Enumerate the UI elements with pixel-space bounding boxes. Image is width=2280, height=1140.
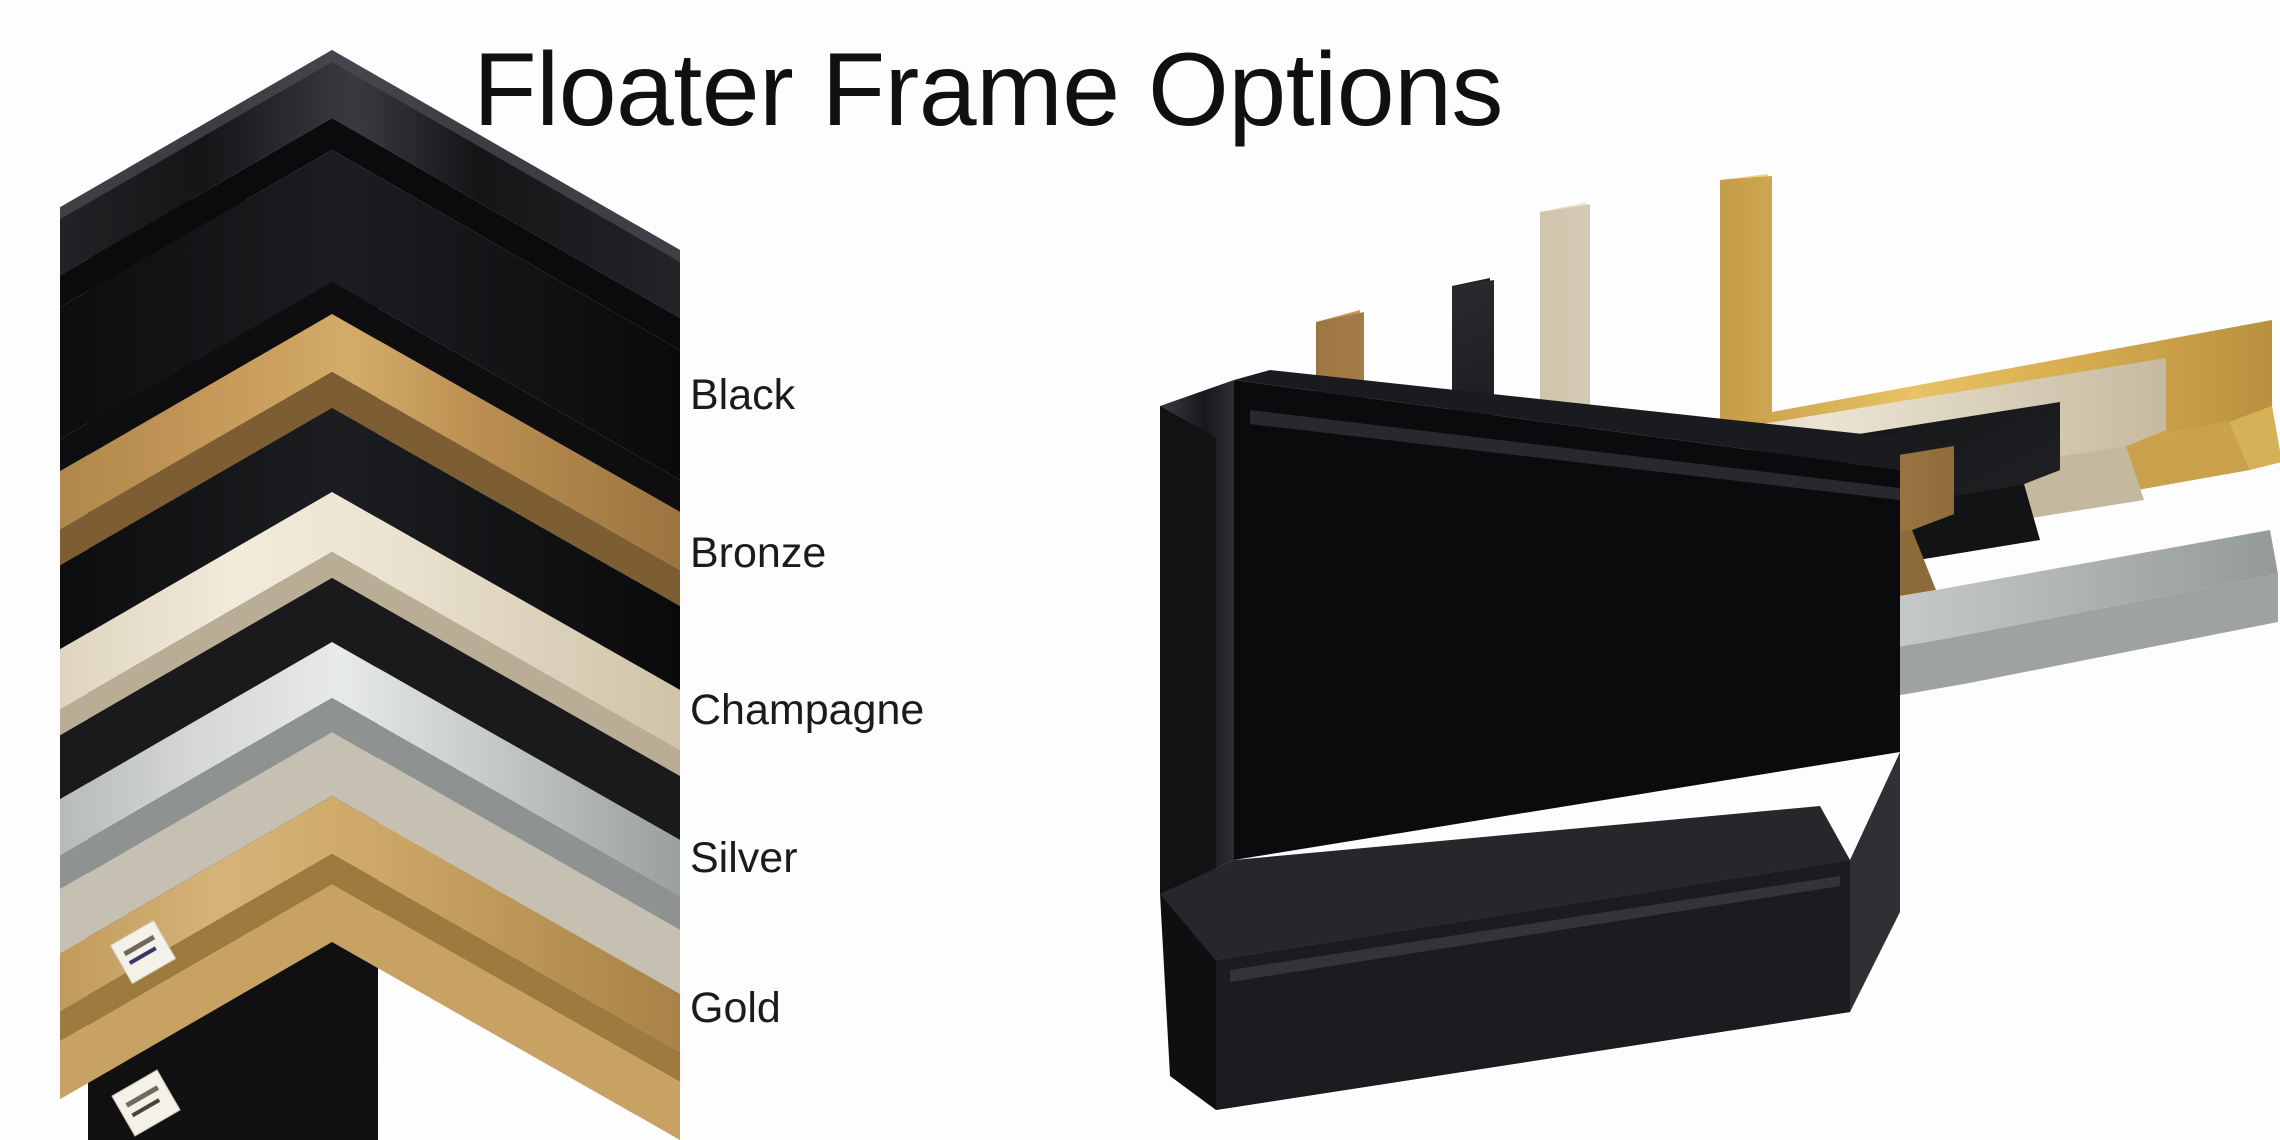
finish-label-champagne: Champagne: [690, 687, 924, 733]
left-frame-stack-photo: [60, 50, 680, 1140]
slide-canvas: Floater Frame Options: [0, 0, 2280, 1140]
finish-label-gold: Gold: [690, 985, 781, 1031]
right-frame-corners-photo: [1020, 170, 2280, 1130]
finish-label-black: Black: [690, 372, 795, 418]
finish-label-bronze: Bronze: [690, 530, 826, 576]
chevron-stack-svg: [60, 50, 680, 1140]
nested-corners-svg: [1020, 170, 2280, 1130]
finish-label-silver: Silver: [690, 835, 798, 881]
